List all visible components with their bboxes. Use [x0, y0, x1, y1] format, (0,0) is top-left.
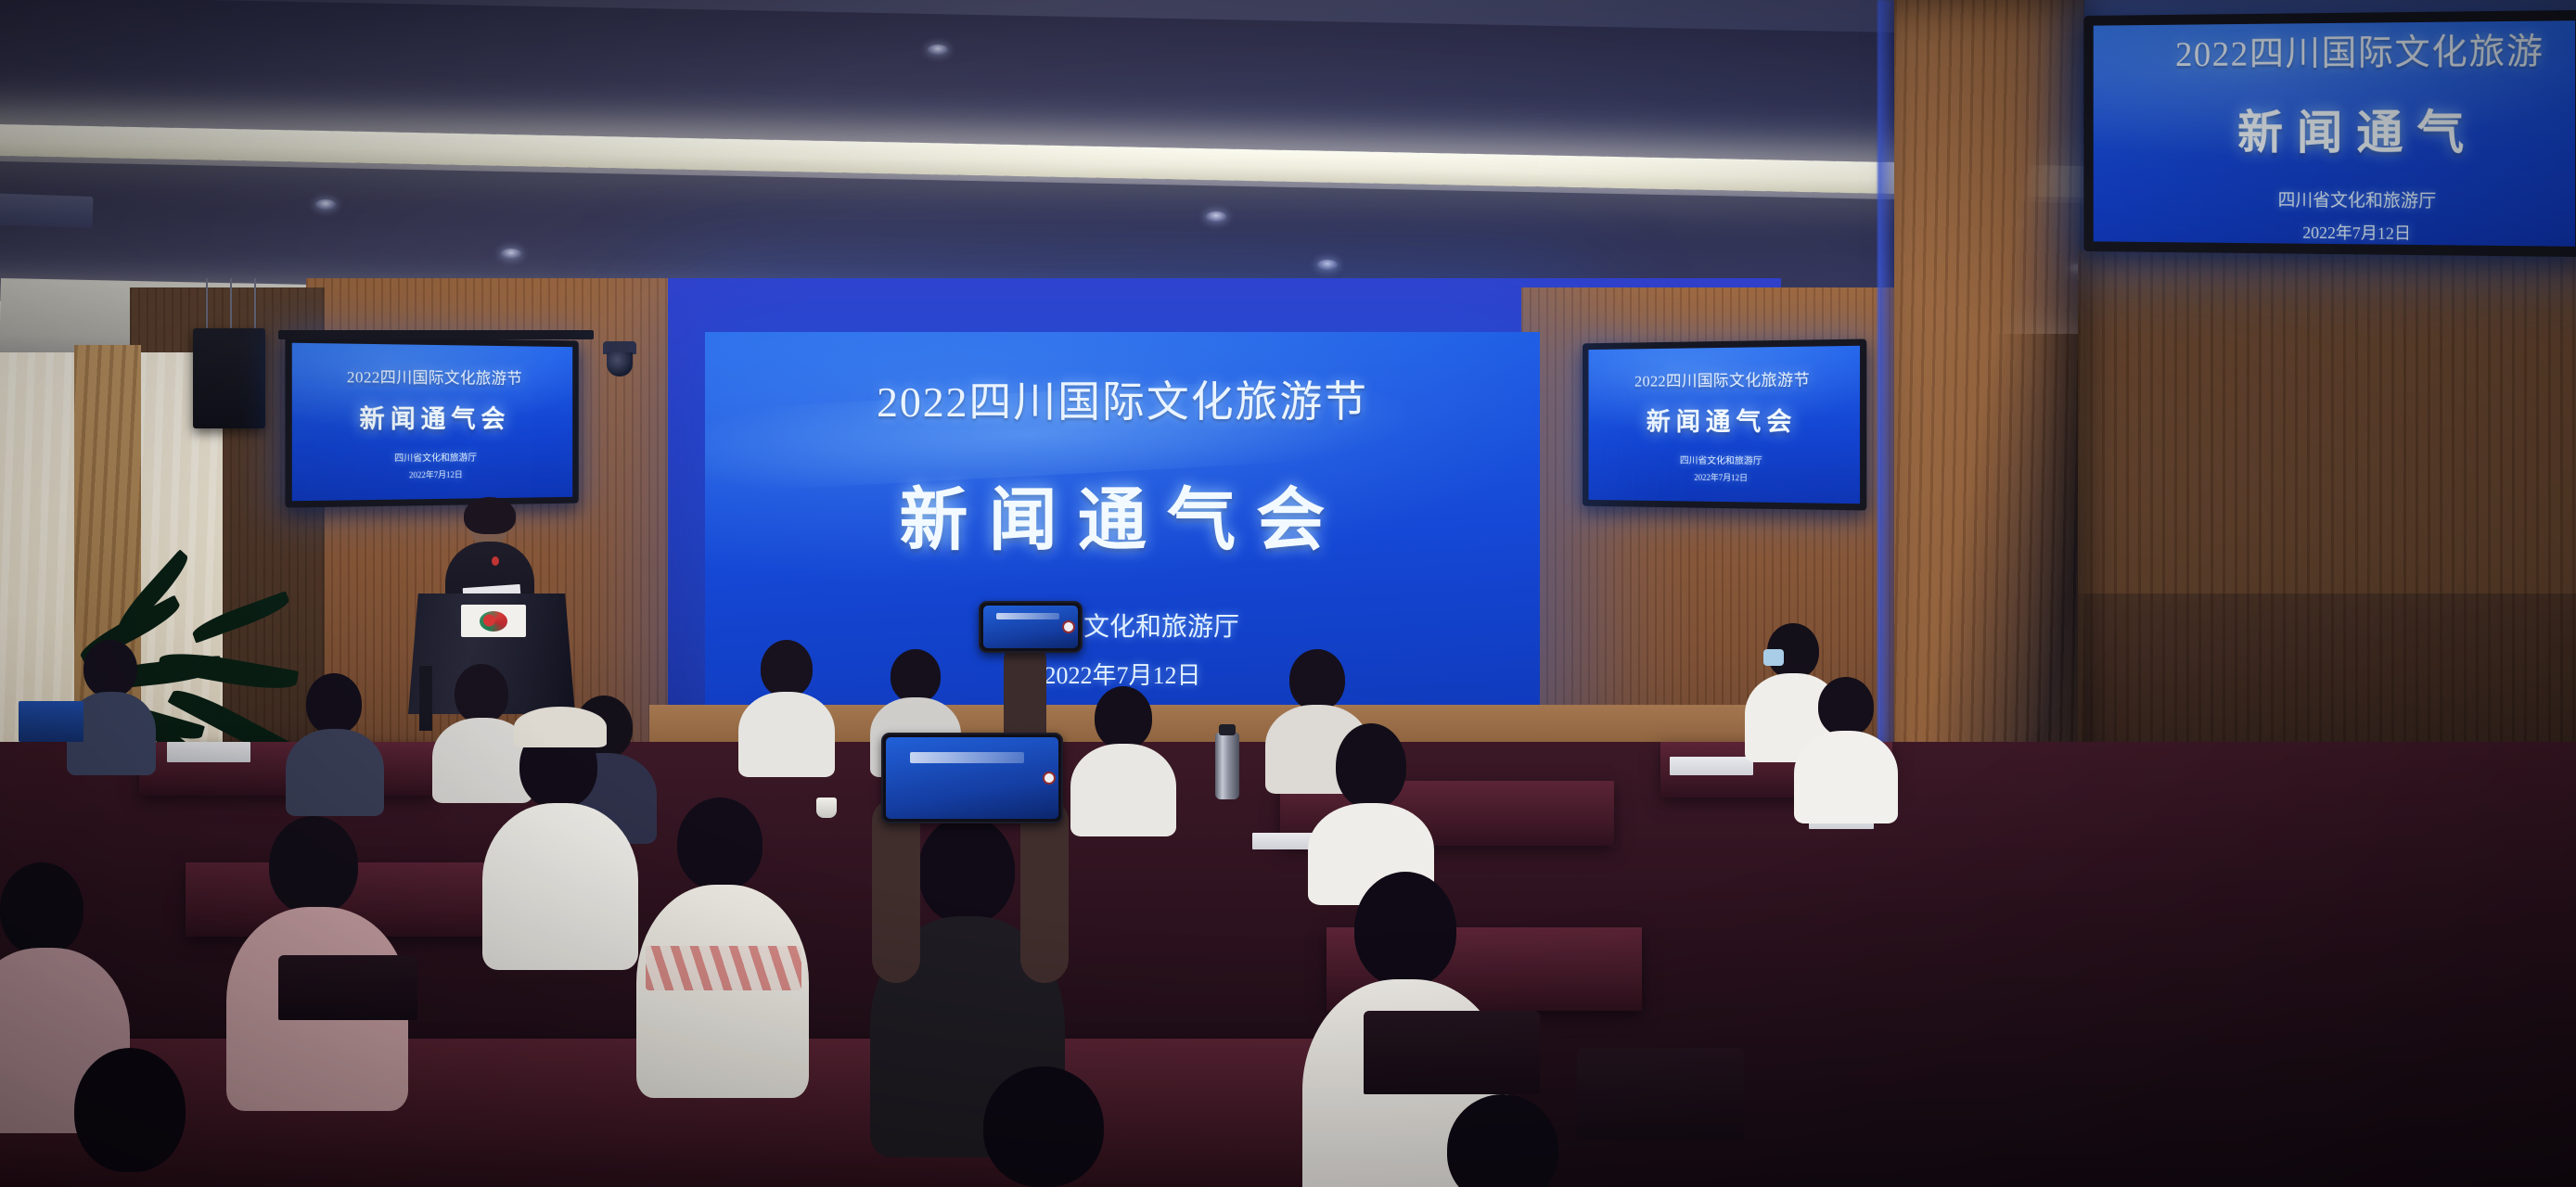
tv-far-organization: 四川省文化和旅游厅	[2278, 185, 2437, 211]
monitor-far-right: 2022四川国际文化旅游 新闻通气 四川省文化和旅游厅 2022年7月12日	[2083, 10, 2576, 257]
podium-plate	[461, 605, 526, 637]
monitor-right: 2022四川国际文化旅游节 新闻通气会 四川省文化和旅游厅 2022年7月12日	[1583, 339, 1866, 511]
culture-tourism-emblem-icon	[480, 611, 507, 632]
main-screen-headline: 新闻通气会	[900, 465, 1346, 564]
main-led-screen: 2022四川国际文化旅游节 新闻通气会 四川省文化和旅游厅 2022年7月12日	[705, 332, 1540, 726]
chair	[1364, 1011, 1540, 1094]
main-screen-date: 2022年7月12日	[1044, 657, 1200, 691]
cap-icon	[514, 707, 607, 747]
tv-left-title: 2022四川国际文化旅游节	[347, 363, 522, 388]
monitor-left-frame-top	[278, 330, 594, 339]
main-screen-title: 2022四川国际文化旅游节	[877, 368, 1368, 429]
raised-arm	[872, 798, 920, 983]
face-mask-icon	[1763, 649, 1784, 666]
tv-right-organization: 四川省文化和旅游厅	[1680, 452, 1762, 466]
document-sheet	[167, 742, 250, 762]
shirt-calligraphy-print	[646, 946, 801, 990]
smartphone-recording-lower[interactable]	[881, 733, 1063, 823]
tv-far-headline: 新闻通气	[2237, 95, 2478, 162]
thermos-flask	[1215, 733, 1239, 799]
microphone-stand	[419, 666, 432, 731]
monitor-left: 2022四川国际文化旅游节 新闻通气会 四川省文化和旅游厅 2022年7月12日	[285, 336, 578, 507]
tv-far-title: 2022四川国际文化旅游	[2175, 21, 2544, 75]
tv-far-date: 2022年7月12日	[2302, 219, 2411, 244]
press-conference-photo: 2022四川国际文化旅游节 新闻通气会 四川省文化和旅游厅 2022年7月12日…	[0, 0, 2576, 1187]
raised-arm	[1020, 798, 1069, 983]
tv-left-headline: 新闻通气会	[359, 398, 510, 435]
tv-right-title: 2022四川国际文化旅游节	[1634, 365, 1810, 390]
tv-left-date: 2022年7月12日	[409, 467, 463, 480]
ptz-dome-camera-icon	[607, 352, 633, 377]
loudspeaker	[193, 328, 265, 428]
tv-left-organization: 四川省文化和旅游厅	[394, 449, 477, 464]
ceiling-vent	[0, 193, 94, 228]
tv-right-headline: 新闻通气会	[1647, 401, 1798, 438]
document-sheet	[1670, 757, 1753, 775]
tv-right-date: 2022年7月12日	[1694, 470, 1748, 483]
smartphone-recording-upper[interactable]	[979, 601, 1083, 653]
chair	[278, 955, 417, 1020]
lapel-pin	[492, 556, 499, 566]
chair	[1577, 1048, 1744, 1141]
paper-cup	[816, 798, 837, 818]
laptop-screen	[19, 701, 83, 742]
